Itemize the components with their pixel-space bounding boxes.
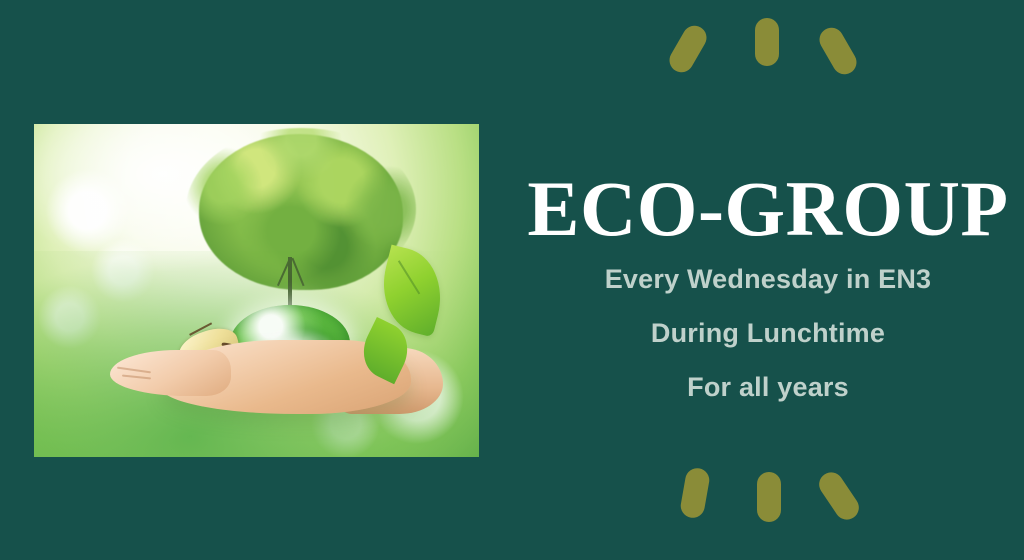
hero-photo — [34, 124, 479, 457]
leaf-vein — [399, 260, 421, 294]
page-title: ECO-GROUP — [512, 170, 1024, 248]
capsule-top-left-icon — [665, 21, 711, 76]
subtitle-block: Every Wednesday in EN3 During Lunchtime … — [512, 252, 1024, 414]
finger-crease — [117, 366, 151, 372]
capsule-bottom-right-icon — [815, 468, 864, 525]
subtitle-line-time: During Lunchtime — [512, 306, 1024, 360]
finger-crease — [122, 375, 151, 380]
capsule-bottom-center-icon — [757, 472, 781, 522]
subtitle-line-schedule: Every Wednesday in EN3 — [512, 252, 1024, 306]
tree-canopy-icon — [199, 134, 404, 291]
poster-canvas: ECO-GROUP Every Wednesday in EN3 During … — [0, 0, 1024, 560]
subtitle-line-audience: For all years — [512, 360, 1024, 414]
hand-fingers — [110, 350, 232, 396]
capsule-top-right-icon — [815, 23, 861, 78]
capsule-top-center-icon — [755, 18, 779, 66]
capsule-bottom-left-icon — [679, 466, 711, 519]
